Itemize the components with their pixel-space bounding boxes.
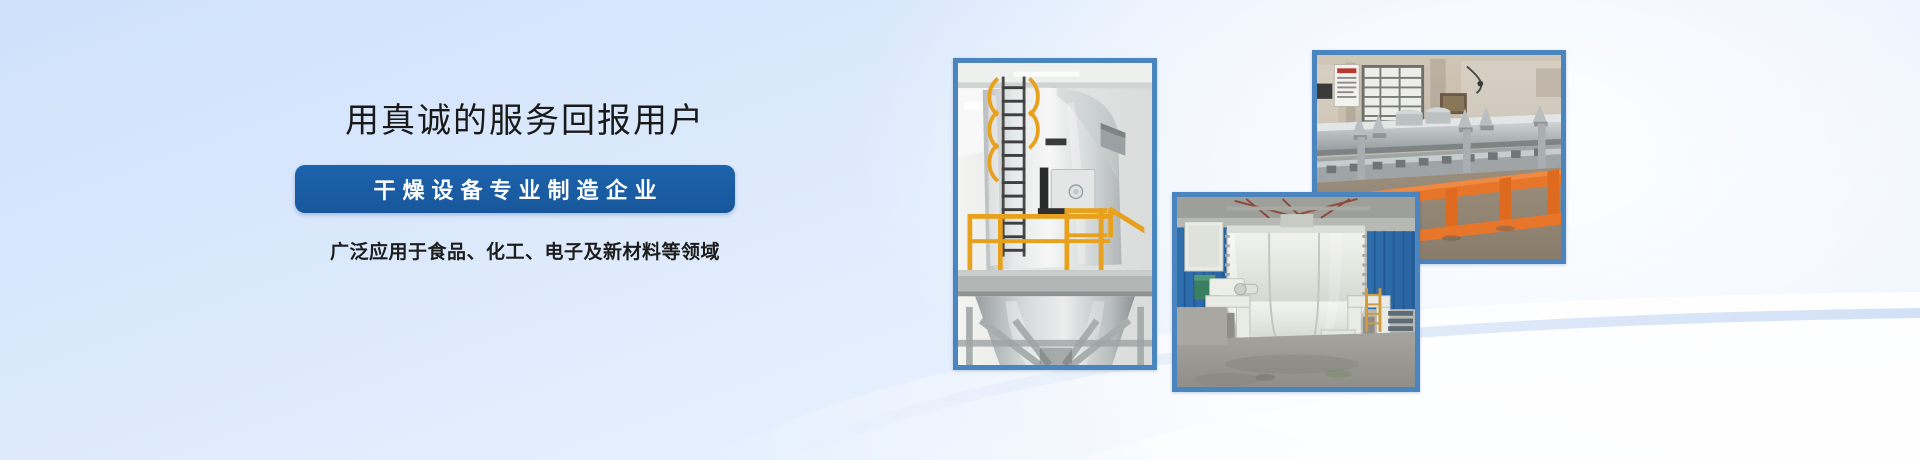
hero-banner: 用真诚的服务回报用户 干燥设备专业制造企业 广泛应用于食品、化工、电子及新材料等… xyxy=(0,0,1920,460)
photo-ribbon-mixer-image xyxy=(1177,197,1415,387)
photo-ribbon-mixer xyxy=(1172,192,1420,392)
hero-subline: 广泛应用于食品、化工、电子及新材料等领域 xyxy=(295,237,755,264)
hero-headline: 用真诚的服务回报用户 xyxy=(295,100,755,143)
hero-pill-label: 干燥设备专业制造企业 xyxy=(366,173,663,205)
hero-pill-badge: 干燥设备专业制造企业 xyxy=(295,165,735,213)
photo-spray-dryer-tower xyxy=(953,58,1157,370)
photo-spray-dryer-tower-image xyxy=(958,63,1152,365)
hero-copy-block: 用真诚的服务回报用户 干燥设备专业制造企业 广泛应用于食品、化工、电子及新材料等… xyxy=(295,100,755,264)
